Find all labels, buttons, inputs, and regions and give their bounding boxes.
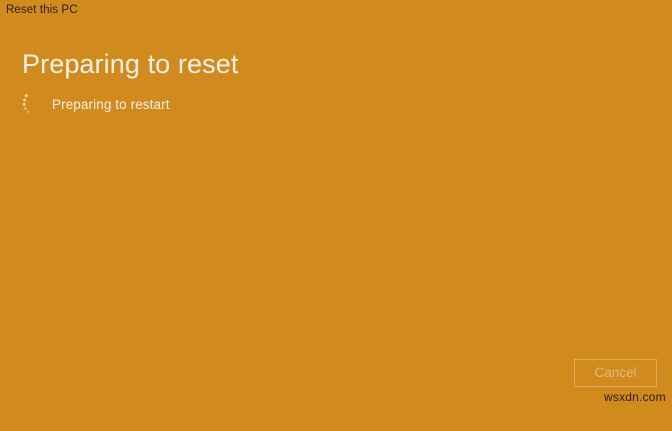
site-watermark: wsxdn.com [604,390,666,405]
status-message: Preparing to restart [52,96,170,113]
window-title: Reset this PC [6,4,78,17]
main-content: Preparing to reset Preparing to restart [0,22,672,431]
page-title: Preparing to reset [22,48,238,80]
reset-this-pc-screen: Reset this PC Preparing to reset Prepari… [0,0,672,431]
cancel-button[interactable]: Cancel [574,359,657,387]
dot-ring-spinner-icon [18,93,36,117]
window-titlebar: Reset this PC [0,0,672,22]
status-row: Preparing to restart [18,93,438,117]
